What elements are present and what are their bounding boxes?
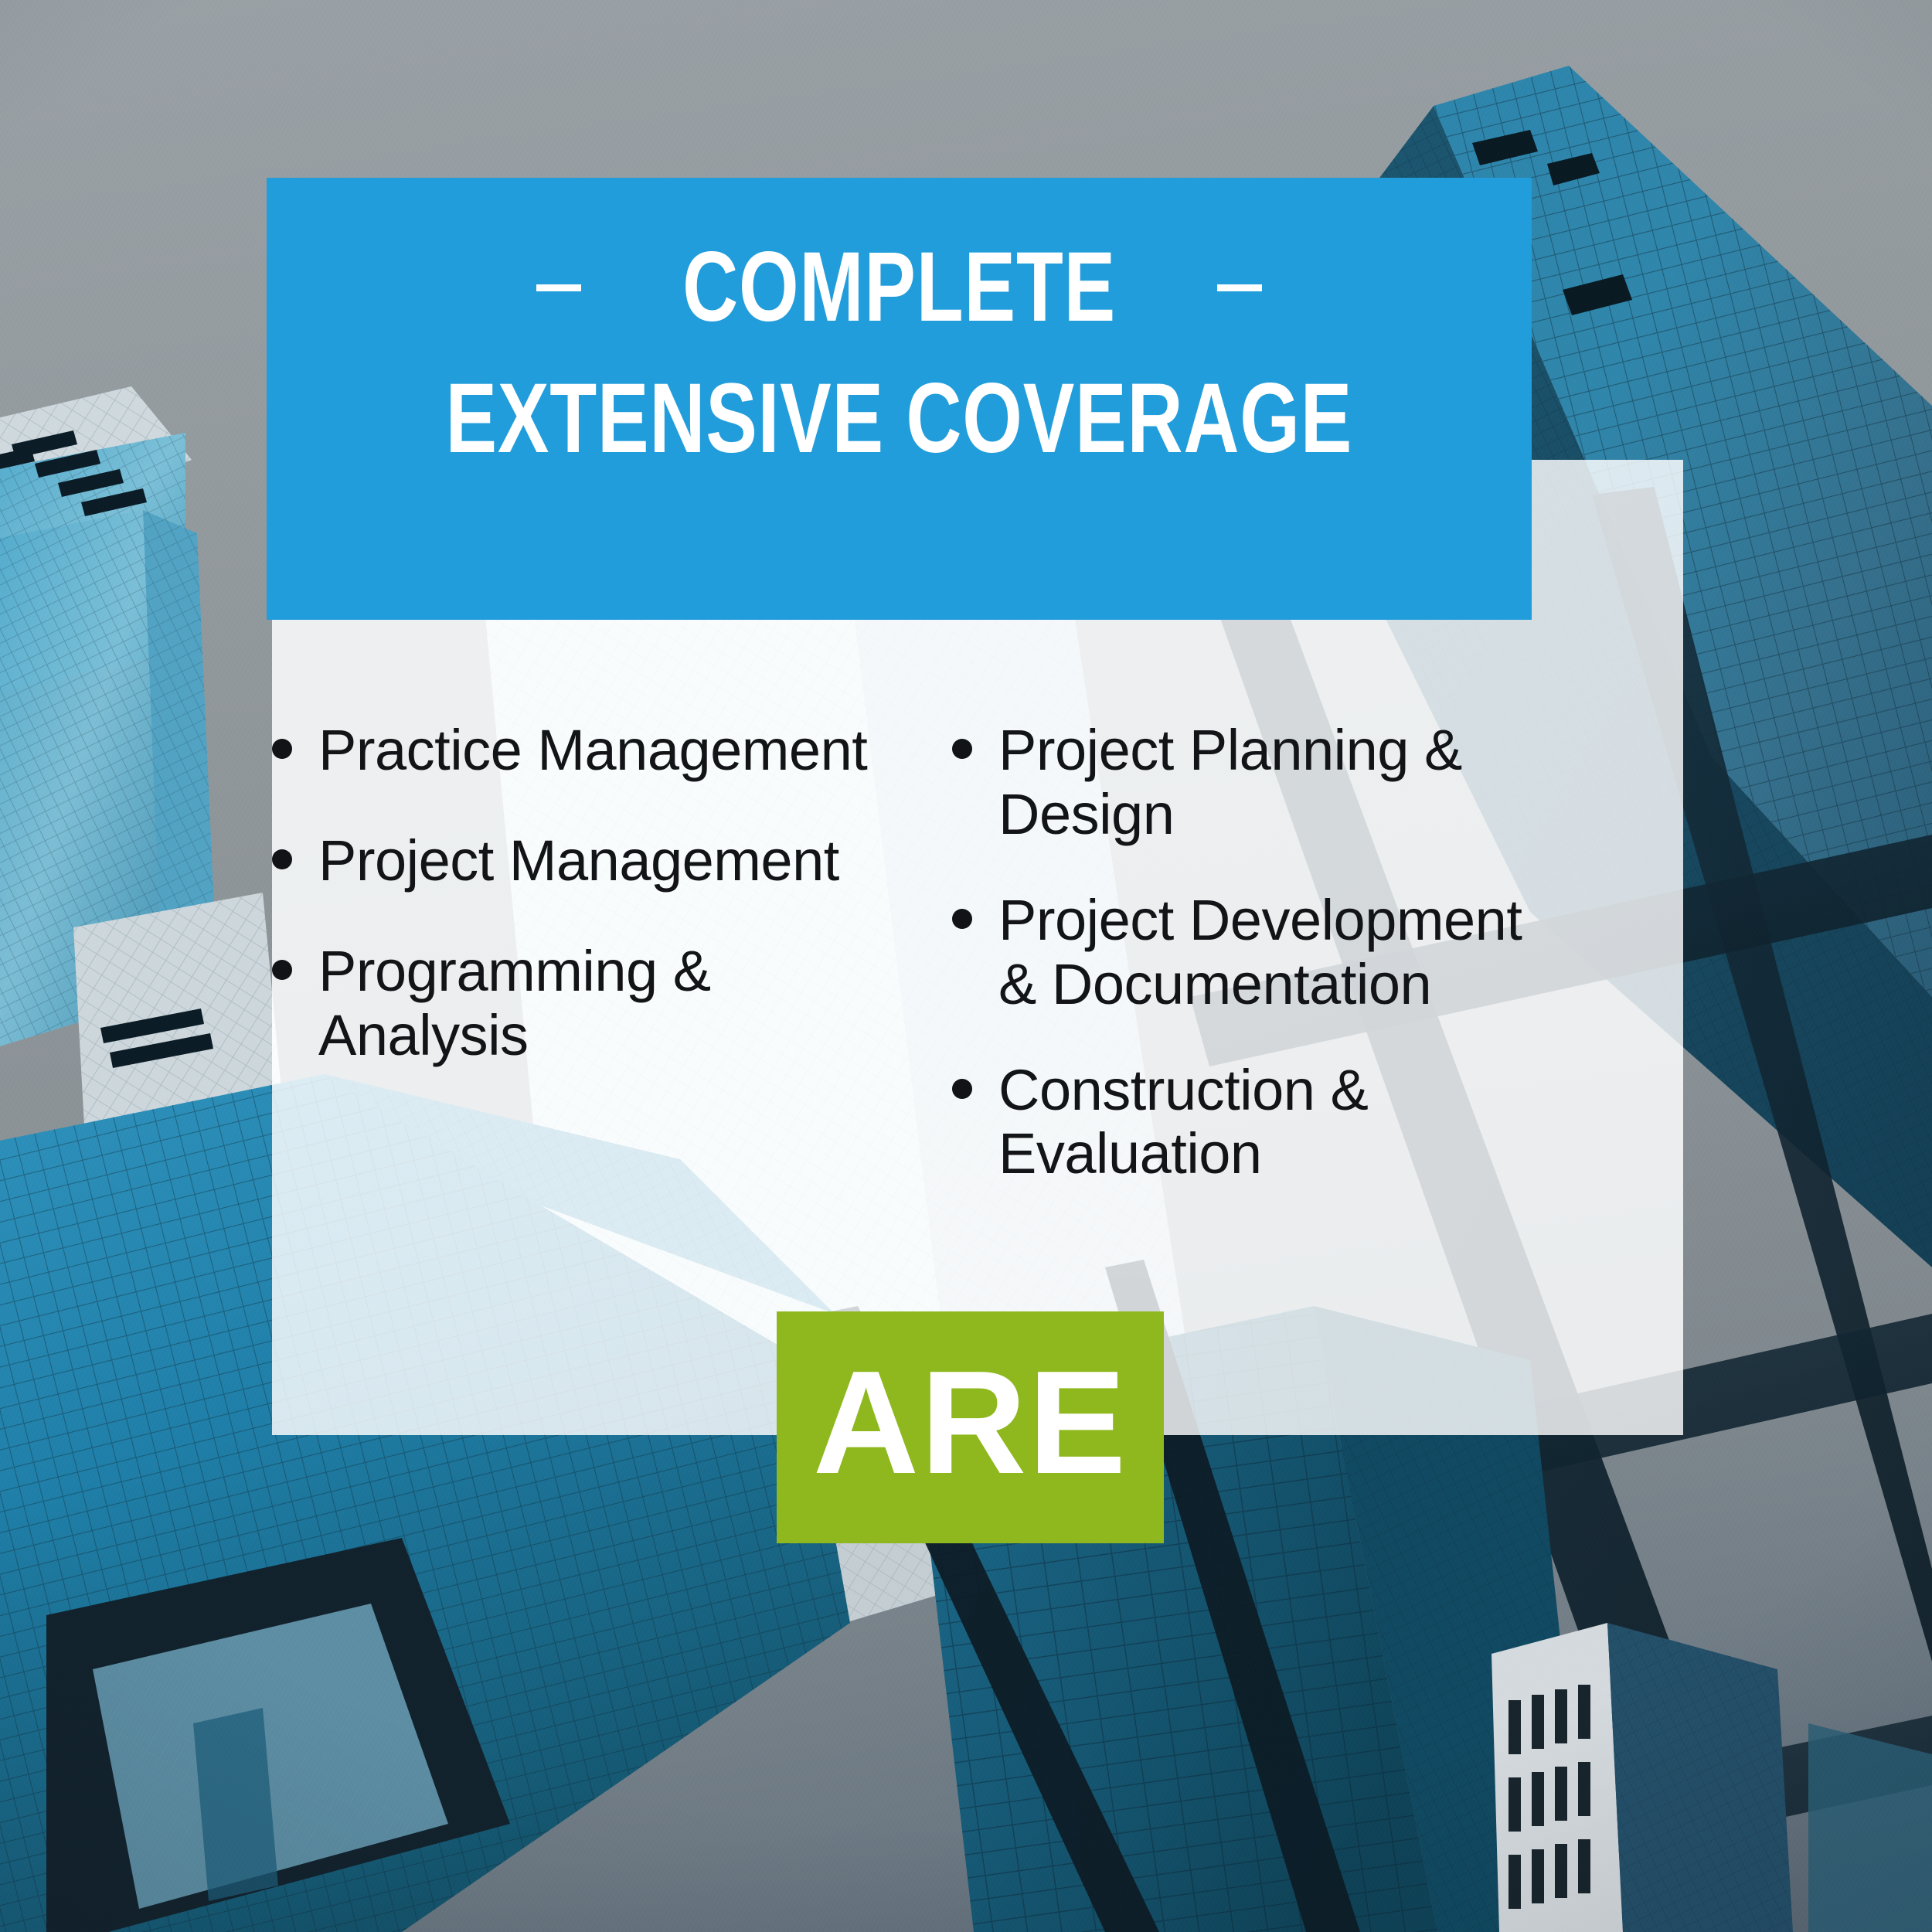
list-item-label: Construction & Evaluation xyxy=(998,1059,1563,1187)
list-item-label: Practice Management xyxy=(318,719,867,783)
are-badge-label: ARE xyxy=(813,1349,1128,1496)
poster-canvas: COMPLETE EXTENSIVE COVERAGE Practice Man… xyxy=(0,0,1932,1932)
dash-left-icon xyxy=(536,284,581,291)
dash-right-icon xyxy=(1217,284,1262,291)
bullet-dot-icon xyxy=(272,739,292,759)
list-item-label: Project Planning & Design xyxy=(998,719,1563,847)
list-item-label: Project Development & Documentation xyxy=(998,889,1563,1017)
list-item: Project Management xyxy=(272,829,883,893)
bullet-dot-icon xyxy=(952,739,972,759)
coverage-columns: Practice Management Project Management P… xyxy=(272,719,1683,1228)
list-item-label: Programming & Analysis xyxy=(318,940,883,1068)
banner-title-secondary: EXTENSIVE COVERAGE xyxy=(446,369,1353,468)
bullet-dot-icon xyxy=(272,960,292,980)
banner-title-primary: COMPLETE xyxy=(682,238,1116,337)
coverage-column-right: Project Planning & Design Project Develo… xyxy=(952,719,1563,1228)
bullet-dot-icon xyxy=(952,909,972,929)
list-item: Project Development & Documentation xyxy=(952,889,1563,1017)
bullet-dot-icon xyxy=(952,1079,972,1099)
header-banner: COMPLETE EXTENSIVE COVERAGE xyxy=(267,178,1532,620)
list-item-label: Project Management xyxy=(318,829,839,893)
bullet-dot-icon xyxy=(272,849,292,869)
coverage-column-left: Practice Management Project Management P… xyxy=(272,719,883,1228)
list-item: Construction & Evaluation xyxy=(952,1059,1563,1187)
list-item: Project Planning & Design xyxy=(952,719,1563,847)
list-item: Programming & Analysis xyxy=(272,940,883,1068)
list-item: Practice Management xyxy=(272,719,883,783)
are-badge: ARE xyxy=(777,1311,1164,1543)
title-row: COMPLETE xyxy=(536,238,1262,337)
